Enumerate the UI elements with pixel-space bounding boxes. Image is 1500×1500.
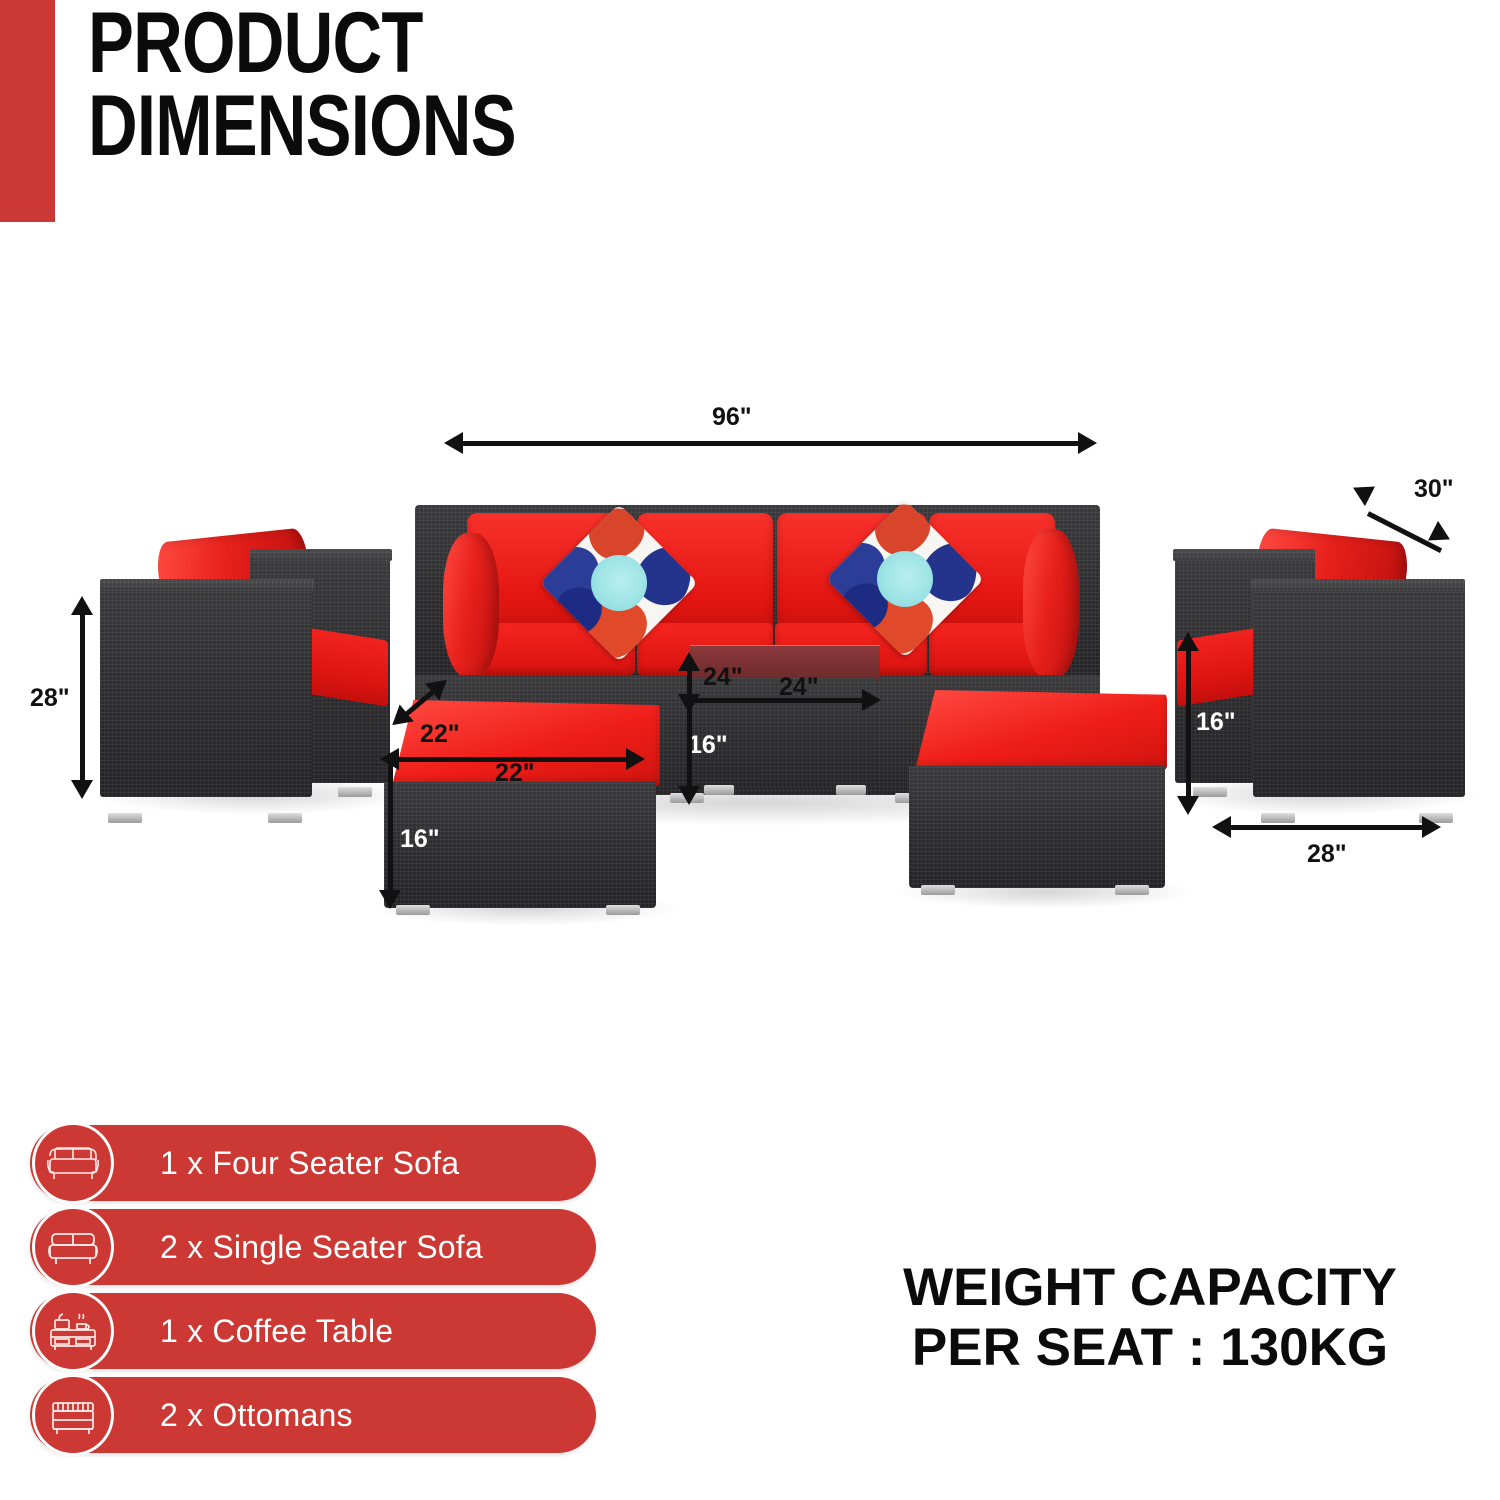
chair-foot [338,787,372,797]
ottoman-right [905,690,1175,895]
chair-foot [268,813,302,823]
ottoman-foot [921,885,955,895]
chair-near-arm [1253,585,1465,797]
coffee-table-icon [32,1290,114,1372]
ottoman-foot [1115,885,1149,895]
single-seater-sofa-right [1165,525,1465,815]
single-seater-sofa-left [100,525,400,815]
bolster-pillow [1023,529,1079,679]
ottoman-cushion [915,690,1167,770]
sofa-single-seater-icon [32,1206,114,1288]
table-foot [704,785,734,795]
chair-arm-top [250,549,392,561]
chair-arm-top [1173,549,1315,561]
ottoman-foot [396,905,430,915]
list-item[interactable]: 1 x Four Seater Sofa [30,1125,596,1201]
infographic-canvas: PRODUCT DIMENSIONS [0,0,1500,1500]
list-item[interactable]: 1 x Coffee Table [30,1293,596,1369]
list-item[interactable]: 2 x Single Seater Sofa [30,1209,596,1285]
table-foot [836,785,866,795]
weight-capacity-text: WEIGHT CAPACITY PER SEAT : 130KG [830,1258,1470,1379]
ottoman-icon [32,1374,114,1456]
chair-arm-top [100,579,314,591]
legend-label: 2 x Ottomans [160,1377,353,1453]
product-illustration [0,380,1500,960]
legend-label: 1 x Coffee Table [160,1293,393,1369]
chair-near-arm [100,585,312,797]
ottoman-frame [909,766,1165,888]
legend-label: 1 x Four Seater Sofa [160,1125,459,1201]
chair-foot [1261,813,1295,823]
chair-arm-top [1251,579,1465,591]
bolster-pillow [443,533,499,678]
ottoman-foot [606,905,640,915]
sofa-four-seater-icon [32,1122,114,1204]
accent-bar [0,0,55,222]
page-title: PRODUCT DIMENSIONS [88,2,808,167]
legend-label: 2 x Single Seater Sofa [160,1209,483,1285]
chair-foot [108,813,142,823]
list-item[interactable]: 2 x Ottomans [30,1377,596,1453]
